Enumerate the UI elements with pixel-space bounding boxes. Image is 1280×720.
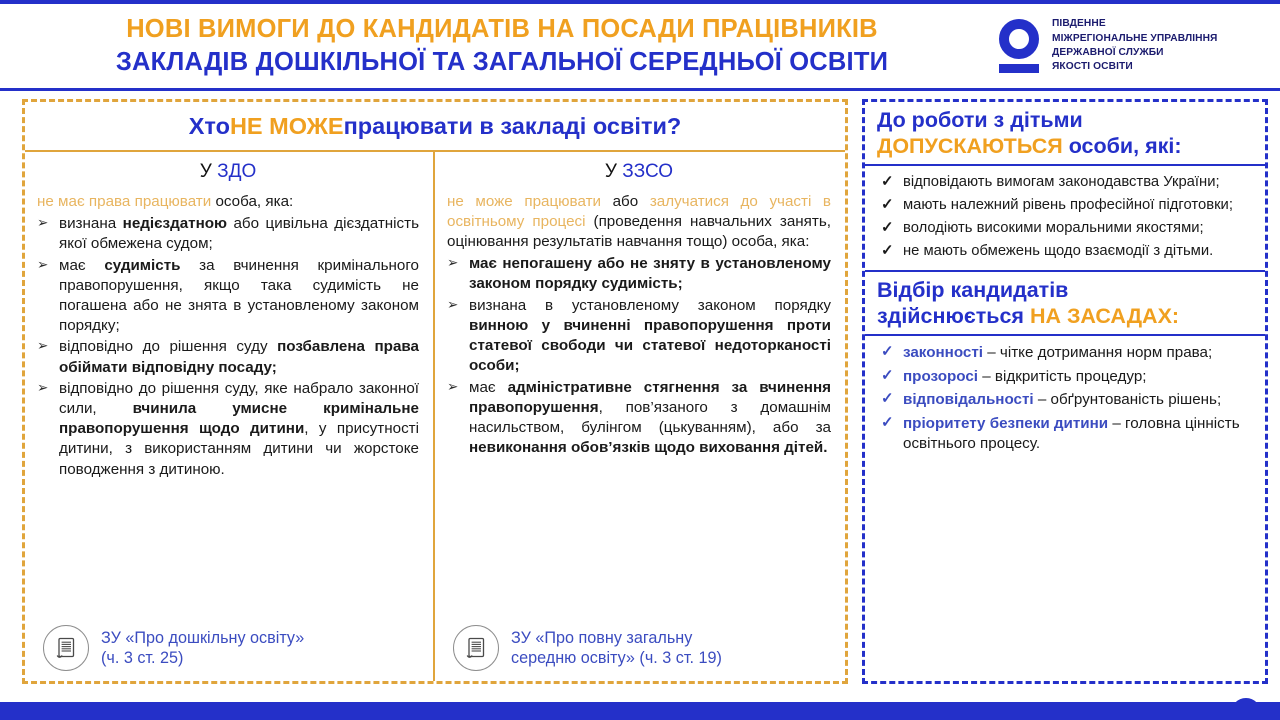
selection-principle-keyword: законності (903, 344, 983, 361)
column-zzso-list: має непогашену або не зняту в установлен… (447, 254, 831, 458)
selection-principles-list: законності – чітке дотримання норм права… (865, 336, 1265, 464)
column-zzso-lead: не може працювати або залучатися до учас… (447, 192, 831, 252)
restrictions-title-suffix: працювати в закладі освіти? (344, 113, 682, 140)
column-zzso-lead-mid: або (601, 193, 650, 210)
column-zdo-law-text: ЗУ «Про дошкільну освіту»(ч. 3 ст. 25) (101, 628, 304, 669)
eligibility-list-item: відповідають вимогам законодавства Украї… (879, 173, 1253, 193)
zdo-list-item: має судимість за вчинення кримінального … (37, 256, 419, 337)
eligibility-title-accent: ДОПУСКАЮТЬСЯ (877, 134, 1063, 158)
organization-name: ПІВДЕННЕ МІЖРЕГІОНАЛЬНЕ УПРАВЛІННЯ ДЕРЖА… (1052, 17, 1217, 75)
restrictions-columns: У ЗДО не має права працювати особа, яка:… (25, 152, 845, 681)
selection-section-title: Відбір кандидатів здійснюється НА ЗАСАДА… (865, 272, 1265, 336)
restrictions-panel: Хто НЕ МОЖЕ працювати в закладі освіти? … (22, 99, 848, 684)
page-header: НОВІ ВИМОГИ ДО КАНДИДАТІВ НА ПОСАДИ ПРАЦ… (0, 4, 1280, 88)
law-reference-line: ЗУ «Про повну загальну (511, 629, 692, 647)
column-zzso-law-text: ЗУ «Про повну загальнусередню освіту» (ч… (511, 628, 722, 669)
brand-line-2: МІЖРЕГІОНАЛЬНЕ УПРАВЛІННЯ (1052, 32, 1217, 46)
selection-title-line-2: здійснюється НА ЗАСАДАХ: (877, 304, 1255, 330)
document-scroll-icon (43, 625, 89, 671)
restrictions-title-prefix: Хто (189, 113, 230, 140)
column-zdo: У ЗДО не має права працювати особа, яка:… (25, 152, 435, 681)
selection-principle-description: – чітке дотримання норм права; (983, 344, 1212, 361)
eligibility-list: відповідають вимогам законодавства Украї… (865, 166, 1265, 271)
column-zdo-lead: не має права працювати особа, яка: (37, 192, 419, 212)
column-zdo-heading-code: ЗДО (217, 161, 256, 182)
eligibility-panel: До роботи з дітьми ДОПУСКАЮТЬСЯ особи, я… (862, 99, 1268, 684)
restrictions-title-accent: НЕ МОЖЕ (230, 113, 344, 140)
law-reference-line: ЗУ «Про дошкільну освіту» (101, 629, 304, 647)
column-zdo-heading: У ЗДО (37, 161, 419, 183)
bottom-accent-bar (0, 702, 1280, 720)
organization-logo: ПІВДЕННЕ МІЖРЕГІОНАЛЬНЕ УПРАВЛІННЯ ДЕРЖА… (990, 17, 1217, 75)
selection-principle-description: – відкритість процедур; (978, 368, 1147, 385)
column-zzso: У ЗЗСО не може працювати або залучатися … (435, 152, 845, 681)
brand-line-4: ЯКОСТІ ОСВІТИ (1052, 60, 1217, 74)
selection-title-line-1: Відбір кандидатів (877, 278, 1255, 304)
column-zzso-heading-code: ЗЗСО (622, 161, 673, 182)
header-titles: НОВІ ВИМОГИ ДО КАНДИДАТІВ НА ПОСАДИ ПРАЦ… (0, 13, 990, 78)
column-zdo-heading-prefix: У (200, 161, 217, 182)
law-reference-line: (ч. 3 ст. 25) (101, 649, 183, 667)
page-title-line-2: ЗАКЛАДІВ ДОШКІЛЬНОЇ ТА ЗАГАЛЬНОЇ СЕРЕДНЬ… (14, 46, 990, 79)
column-zzso-heading: У ЗЗСО (447, 161, 831, 183)
selection-principle-keyword: відповідальності (903, 391, 1034, 408)
zzso-list-item-2-run: невиконання обов’язків щодо виховання ді… (469, 439, 827, 456)
selection-principle-item: пріоритету безпеки дитини – головна цінн… (879, 414, 1253, 455)
zzso-list-item: визнана в установленому законом порядку … (447, 296, 831, 377)
zdo-list-item-0-run: визнана (59, 215, 123, 232)
zzso-list-item-0-run: має непогашену або не зняту в установлен… (469, 255, 831, 292)
zdo-list-item-0-run: недієздатною (123, 215, 227, 232)
column-zdo-lead-rest: особа, яка: (211, 193, 293, 210)
selection-principle-keyword: прозоросі (903, 368, 978, 385)
brand-line-3: ДЕРЖАВНОЇ СЛУЖБИ (1052, 46, 1217, 60)
restrictions-panel-title: Хто НЕ МОЖЕ працювати в закладі освіти? (25, 102, 845, 152)
zdo-list-item-2-run: відповідно до рішення суду (59, 338, 277, 355)
logo-mark-icon (996, 19, 1042, 73)
zdo-list-item-1-run: має (59, 257, 104, 274)
zzso-list-item-1-run: визнана в установленому законом порядку (469, 297, 831, 314)
selection-principle-item: законності – чітке дотримання норм права… (879, 343, 1253, 364)
zzso-list-item-1-run: винною у вчиненні правопорушення проти с… (469, 317, 831, 374)
zdo-list-item: відповідно до рішення суду, яке набрало … (37, 379, 419, 480)
selection-title-accent: НА ЗАСАДАХ: (1030, 304, 1179, 328)
selection-title-prefix: здійснюється (877, 304, 1030, 328)
selection-principle-item: відповідальності – обґрунтованість рішен… (879, 390, 1253, 411)
logo-bar-icon (999, 64, 1039, 73)
column-zzso-heading-prefix: У (605, 161, 622, 182)
document-scroll-icon (453, 625, 499, 671)
selection-principle-item: прозоросі – відкритість процедур; (879, 367, 1253, 388)
column-zzso-lead-highlight-1: не може працювати (447, 193, 601, 210)
eligibility-title-line-2: ДОПУСКАЮТЬСЯ особи, які: (877, 134, 1255, 160)
zzso-list-item: має адміністративне стягнення за вчиненн… (447, 378, 831, 459)
eligibility-title-suffix: особи, які: (1063, 134, 1182, 158)
header-divider-rule (0, 88, 1280, 91)
brand-line-1: ПІВДЕННЕ (1052, 17, 1217, 31)
column-zdo-lead-highlight: не має права працювати (37, 193, 211, 210)
zdo-list-item: відповідно до рішення суду позбавлена пр… (37, 337, 419, 377)
selection-principle-keyword: пріоритету безпеки дитини (903, 415, 1108, 432)
column-zzso-law-reference: ЗУ «Про повну загальнусередню освіту» (ч… (453, 625, 722, 671)
zdo-list-item: визнана недієздатною або цивільна дієзда… (37, 214, 419, 254)
law-reference-line: середню освіту» (ч. 3 ст. 19) (511, 649, 722, 667)
logo-ring-icon (999, 19, 1039, 59)
eligibility-list-item: володіють високими моральними якостями; (879, 219, 1253, 239)
column-zdo-list: визнана недієздатною або цивільна дієзда… (37, 214, 419, 480)
column-zdo-law-reference: ЗУ «Про дошкільну освіту»(ч. 3 ст. 25) (43, 625, 304, 671)
eligibility-list-item: не мають обмежень щодо взаємодії з дітьм… (879, 242, 1253, 262)
eligibility-list-item: мають належний рівень професійної підгот… (879, 196, 1253, 216)
zzso-list-item-2-run: має (469, 379, 508, 396)
selection-principle-description: – обґрунтованість рішень; (1034, 391, 1222, 408)
eligibility-title-line-1: До роботи з дітьми (877, 108, 1255, 134)
zzso-list-item: має непогашену або не зняту в установлен… (447, 254, 831, 294)
zdo-list-item-1-run: судимість (104, 257, 180, 274)
eligibility-section-title: До роботи з дітьми ДОПУСКАЮТЬСЯ особи, я… (865, 102, 1265, 166)
page-title-line-1: НОВІ ВИМОГИ ДО КАНДИДАТІВ НА ПОСАДИ ПРАЦ… (14, 13, 990, 46)
